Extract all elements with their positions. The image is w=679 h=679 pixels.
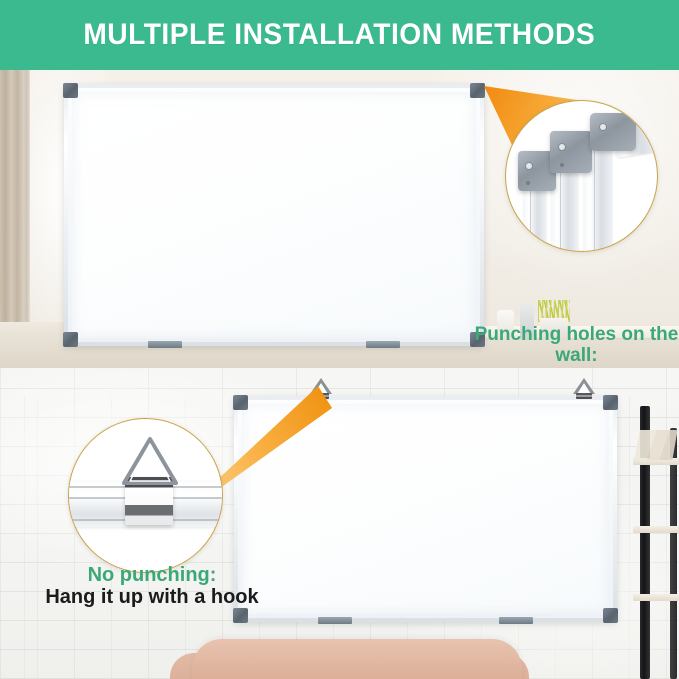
pen-tray-right-clip	[366, 341, 400, 348]
caption-detail-line1: Hang it up with a hook	[8, 586, 296, 609]
frame-corner-top-right	[603, 395, 618, 410]
frame-corner-top-left	[63, 83, 78, 98]
pen-tray-left-clip	[318, 617, 352, 624]
frame-corner-bottom-left	[233, 608, 248, 623]
caption-no-punching: No punching: Hang it up with a hook	[8, 564, 296, 609]
panel-no-punching: No punching: Hang it up with a hook	[0, 368, 679, 679]
sofa	[192, 639, 522, 679]
header-banner: MULTIPLE INSTALLATION METHODS	[0, 0, 679, 70]
whiteboard-surface	[72, 92, 476, 338]
page-title: MULTIPLE INSTALLATION METHODS	[84, 18, 596, 52]
shelf-post-right	[670, 428, 677, 679]
shelf-books	[634, 430, 677, 460]
magnifier-circle-icon-brackets	[505, 100, 658, 252]
frame-corner-bottom-right	[603, 608, 618, 623]
caption-highlight: Punching holes on the wall:	[474, 324, 679, 367]
frame-corner-bottom-left	[63, 332, 78, 347]
panel-punching-holes: Punching holes on the wall: Easy install…	[0, 70, 679, 368]
caption-detail-line1: Easy installation	[474, 367, 679, 368]
caption-highlight: No punching:	[8, 564, 296, 586]
triangle-hook-icon-right	[573, 378, 595, 398]
mounting-bracket-icon-2	[550, 131, 592, 173]
product-infographic: MULTIPLE INSTALLATION METHODS	[0, 0, 679, 679]
pen-tray-left-clip	[148, 341, 182, 348]
shelf-board-middle	[633, 526, 679, 533]
caption-punching-holes: Punching holes on the wall: Easy install…	[474, 324, 679, 368]
whiteboard-frame	[64, 84, 484, 346]
magnifier-circle-icon-hook	[68, 418, 223, 573]
shelf-board-bottom	[633, 594, 679, 601]
bracket-detail-view	[506, 101, 657, 251]
hook-detail-view	[69, 419, 222, 572]
triangle-hook-icon-detail	[121, 437, 179, 494]
pen-tray-right-clip	[499, 617, 533, 624]
whiteboard-wall-mounted	[64, 84, 484, 346]
mounting-bracket-icon-3	[590, 113, 636, 151]
